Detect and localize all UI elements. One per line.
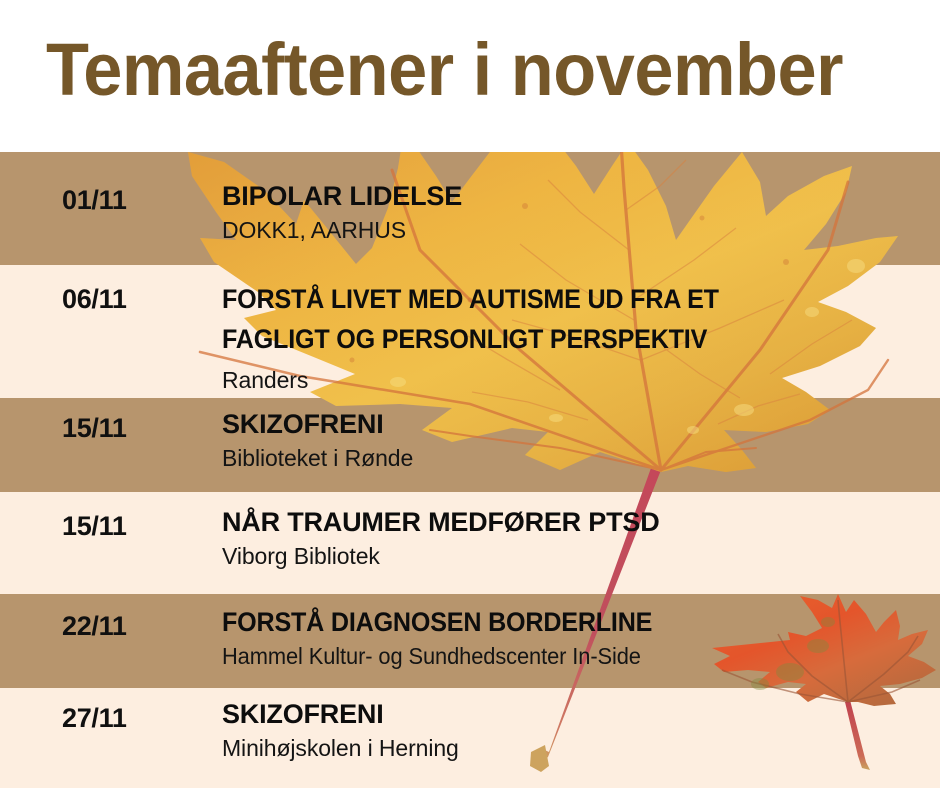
event-body: FORSTÅ DIAGNOSEN BORDERLINE Hammel Kultu… [222,606,685,671]
event-date: 15/11 [62,412,127,444]
event-title: NÅR TRAUMER MEDFØRER PTSD [222,506,660,539]
event-list: 01/11 BIPOLAR LIDELSE DOKK1, AARHUS 06/1… [0,0,940,788]
event-location: Biblioteket i Rønde [222,443,413,473]
event-date: 01/11 [62,184,127,216]
event-title: SKIZOFRENI [222,698,459,731]
event-title: BIPOLAR LIDELSE [222,180,462,213]
list-item[interactable]: 15/11 SKIZOFRENI Biblioteket i Rønde [0,398,940,492]
event-location: Minihøjskolen i Herning [222,733,459,763]
event-title: SKIZOFRENI [222,408,413,441]
event-body: FORSTÅ LIVET MED AUTISME UD FRA ET FAGLI… [222,279,756,395]
event-date: 06/11 [62,283,127,315]
event-date: 27/11 [62,702,127,734]
event-location: DOKK1, AARHUS [222,215,462,245]
event-location: Viborg Bibliotek [222,541,660,571]
list-item[interactable]: 15/11 NÅR TRAUMER MEDFØRER PTSD Viborg B… [0,492,940,594]
list-item[interactable]: 01/11 BIPOLAR LIDELSE DOKK1, AARHUS [0,152,940,265]
event-location: Randers [222,365,756,395]
event-date: 22/11 [62,610,127,642]
event-body: NÅR TRAUMER MEDFØRER PTSD Viborg Bibliot… [222,506,660,571]
event-location: Hammel Kultur- og Sundhedscenter In-Side [222,641,661,671]
event-title-line-2: FAGLIGT OG PERSONLIGT PERSPEKTIV [222,319,719,359]
event-title: FORSTÅ DIAGNOSEN BORDERLINE [222,606,652,639]
list-item[interactable]: 27/11 SKIZOFRENI Minihøjskolen i Herning [0,688,940,788]
list-item[interactable]: 22/11 FORSTÅ DIAGNOSEN BORDERLINE Hammel… [0,594,940,688]
list-item[interactable]: 06/11 FORSTÅ LIVET MED AUTISME UD FRA ET… [0,265,940,398]
event-date: 15/11 [62,510,127,542]
event-body: BIPOLAR LIDELSE DOKK1, AARHUS [222,180,462,245]
event-title-line-1: FORSTÅ LIVET MED AUTISME UD FRA ET [222,279,719,319]
event-body: SKIZOFRENI Biblioteket i Rønde [222,408,413,473]
poster: Temaaftener i november 01/11 BIPOLAR LID… [0,0,940,788]
event-body: SKIZOFRENI Minihøjskolen i Herning [222,698,459,763]
